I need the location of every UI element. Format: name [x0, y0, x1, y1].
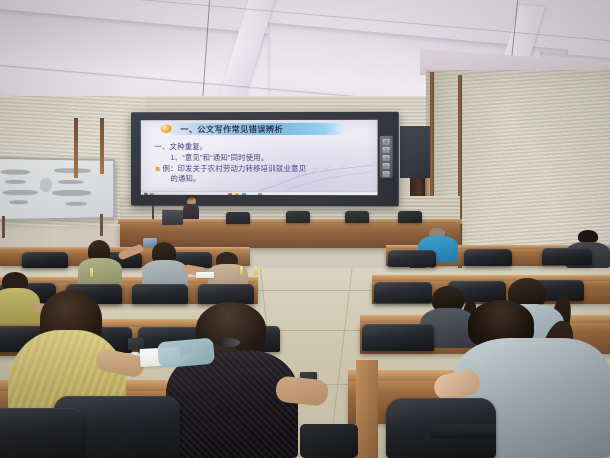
wall-hanging-strip	[100, 118, 104, 174]
front-chair[interactable]	[226, 212, 250, 224]
slide-bullet-dot-icon	[161, 124, 172, 133]
front-chair[interactable]	[345, 211, 369, 223]
front-chair[interactable]	[286, 211, 310, 223]
next-button[interactable]: ▷	[383, 163, 390, 169]
chair[interactable]	[542, 248, 592, 265]
menu-button[interactable]: ≡	[383, 147, 390, 153]
chair[interactable]	[464, 249, 512, 266]
hair-tie	[216, 338, 240, 347]
slide-square-bullet-icon	[156, 166, 160, 170]
whiteboard-stand-leg	[100, 214, 103, 236]
notebook[interactable]	[196, 272, 214, 278]
water-bottle[interactable]	[240, 266, 243, 275]
slide-content: 一、公文写作常见错误辨析 一、文种重复。 1、“意见”和“通知”同时使用。 例：…	[141, 120, 378, 195]
chair[interactable]	[198, 284, 254, 304]
whiteboard[interactable]	[0, 158, 124, 236]
classroom-photo: 一、公文写作常见错误辨析 一、文种重复。 1、“意见”和“通知”同时使用。 例：…	[0, 0, 610, 458]
slide-body-line: 一、文种重复。	[155, 142, 208, 151]
presenter-laptop[interactable]	[162, 210, 183, 226]
desk-side-panel	[356, 360, 378, 458]
slide-title: 一、公文写作常见错误辨析	[180, 123, 340, 134]
chair-arm[interactable]	[430, 424, 496, 438]
water-bottle[interactable]	[254, 266, 257, 275]
whiteboard-stand-leg	[2, 216, 5, 238]
slide-body-line: 1、“意见”和“通知”同时使用。	[170, 153, 268, 162]
chair[interactable]	[22, 252, 68, 268]
draped-cloth	[157, 338, 215, 369]
water-bottle[interactable]	[90, 268, 93, 277]
attendee-torso	[78, 258, 122, 286]
bag[interactable]	[300, 424, 358, 458]
whiteboard-surface[interactable]	[0, 157, 115, 221]
prev-button[interactable]: ◁	[383, 155, 390, 161]
wall-hanging-strip	[74, 118, 78, 178]
power-button[interactable]: ⏻	[383, 139, 390, 145]
presentation-screen[interactable]: 一、公文写作常见错误辨析 一、文种重复。 1、“意见”和“通知”同时使用。 例：…	[131, 112, 399, 207]
chair[interactable]	[388, 250, 436, 267]
right-wall-dark-panel	[400, 126, 430, 178]
front-chair[interactable]	[398, 211, 422, 223]
display-control-panel[interactable]: ⏻ ≡ ◁ ▷ ＞	[380, 136, 393, 178]
chair[interactable]	[0, 408, 84, 458]
slide-body-line: 的通知。	[170, 174, 200, 183]
source-button[interactable]: ＞	[383, 171, 390, 177]
desk-microphone	[152, 206, 154, 220]
chair[interactable]	[362, 324, 434, 351]
chair[interactable]	[374, 282, 432, 303]
attendee-torso	[166, 350, 298, 458]
os-taskbar[interactable]	[141, 191, 378, 195]
chair[interactable]	[132, 284, 188, 304]
